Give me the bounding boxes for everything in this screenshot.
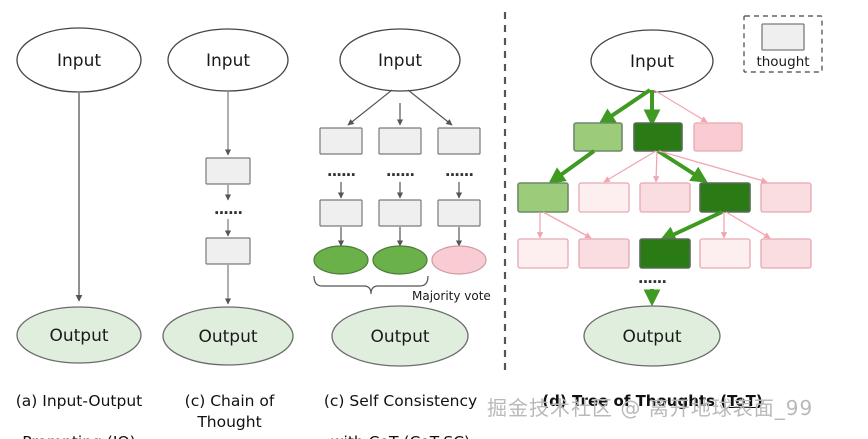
caption-io-line2-post: ) xyxy=(130,433,136,439)
watermark-text: 掘金技术社区 @ 离开地球表面_99 xyxy=(487,392,813,421)
cotsc-thought-box-bottom-2 xyxy=(379,200,421,226)
thought-swatch-icon xyxy=(762,24,804,50)
tot-edge-root-r1n1 xyxy=(601,90,650,123)
cotsc-thought-box-bottom-1 xyxy=(320,200,362,226)
caption-cotsc-line2-pre: with CoT ( xyxy=(331,433,410,439)
cotsc-thought-box-top-2 xyxy=(379,128,421,154)
panel-cot-sc: Input ...... ...... ...... xyxy=(314,29,491,366)
cotsc-outcome-ellipse-2 xyxy=(373,246,427,274)
tot-edge-r1n2-r2n5 xyxy=(659,151,767,182)
cotsc-majority-brace xyxy=(314,276,428,294)
tot-node-r2n1 xyxy=(518,183,568,212)
tot-node-r2n5 xyxy=(761,183,811,212)
cotsc-thought-box-bottom-3 xyxy=(438,200,480,226)
cotsc-thought-box-top-3 xyxy=(438,128,480,154)
tot-edge-root-r1n3 xyxy=(654,90,707,122)
cotsc-output-label: Output xyxy=(370,327,429,347)
cotsc-ellipsis-dots-3: ...... xyxy=(445,162,473,180)
panel-cot: Input ...... Output xyxy=(163,29,293,365)
tot-node-r3n5 xyxy=(761,239,811,268)
cot-input-label: Input xyxy=(206,51,250,71)
tot-node-r1n3 xyxy=(694,123,742,151)
cot-thought-box-1 xyxy=(206,158,250,184)
cotsc-ellipsis-dots-1: ...... xyxy=(327,162,355,180)
tot-edge-r2n1-r3n2 xyxy=(543,212,591,238)
panel-tot: thought Input xyxy=(518,16,822,366)
tot-edge-r2n4-r3n3 xyxy=(662,212,722,240)
cotsc-fan-arrow-left xyxy=(348,90,392,125)
tot-edge-r2n4-r3n5 xyxy=(726,212,770,238)
cot-thought-box-2 xyxy=(206,238,250,264)
caption-io-line1: (a) Input-Output xyxy=(16,392,143,410)
cotsc-outcome-ellipse-1 xyxy=(314,246,368,274)
tot-edge-r1n2-r2n2 xyxy=(604,151,656,182)
caption-io-line2-pre: Prompting ( xyxy=(22,433,113,439)
tot-input-label: Input xyxy=(630,52,674,72)
io-input-label: Input xyxy=(57,51,101,71)
tot-ellipsis-dots: ...... xyxy=(638,269,666,287)
tot-node-r3n3 xyxy=(640,239,690,268)
cotsc-fan-arrow-right xyxy=(408,90,452,125)
cotsc-ellipsis-dots-2: ...... xyxy=(386,162,414,180)
caption-cotsc-abbr: CoT-SC xyxy=(409,433,464,439)
tot-node-r2n4 xyxy=(700,183,750,212)
caption-cotsc-line2-post: ) xyxy=(464,433,470,439)
caption-io-abbr: IO xyxy=(113,433,130,439)
tot-edge-r1n1-r2n1 xyxy=(551,151,594,182)
cotsc-thought-box-top-1 xyxy=(320,128,362,154)
tot-node-r1n2 xyxy=(634,123,682,151)
cot-output-label: Output xyxy=(198,327,257,347)
caption-cot-line1: (c) Chain of Thought xyxy=(185,392,275,430)
tot-node-r1n1 xyxy=(574,123,622,151)
caption-io: (a) Input-Output Prompting (IO) xyxy=(0,371,158,439)
tot-node-r2n3 xyxy=(640,183,690,212)
tot-output-label: Output xyxy=(622,327,681,347)
io-output-label: Output xyxy=(49,326,108,346)
cotsc-majority-vote-label: Majority vote xyxy=(412,289,491,303)
panel-io: Input Output xyxy=(17,28,141,363)
tot-legend-label: thought xyxy=(756,54,809,70)
tot-node-r3n2 xyxy=(579,239,629,268)
cot-ellipsis-dots: ...... xyxy=(214,200,242,218)
tot-node-r3n4 xyxy=(700,239,750,268)
caption-cot: (c) Chain of Thought Prompting (CoT) xyxy=(152,371,307,439)
tot-edge-r1n2-r2n4 xyxy=(658,151,705,181)
figure-canvas: Input Output Input ...... Output Input xyxy=(0,0,868,439)
tot-edge-r1n2-r2n3 xyxy=(656,151,657,182)
caption-cotsc-line1: (c) Self Consistency xyxy=(324,392,477,410)
cotsc-input-label: Input xyxy=(378,51,422,71)
cotsc-outcome-ellipse-3 xyxy=(432,246,486,274)
caption-cot-sc: (c) Self Consistency with CoT (CoT-SC) xyxy=(318,371,483,439)
tot-node-r3n1 xyxy=(518,239,568,268)
tot-node-r2n2 xyxy=(579,183,629,212)
